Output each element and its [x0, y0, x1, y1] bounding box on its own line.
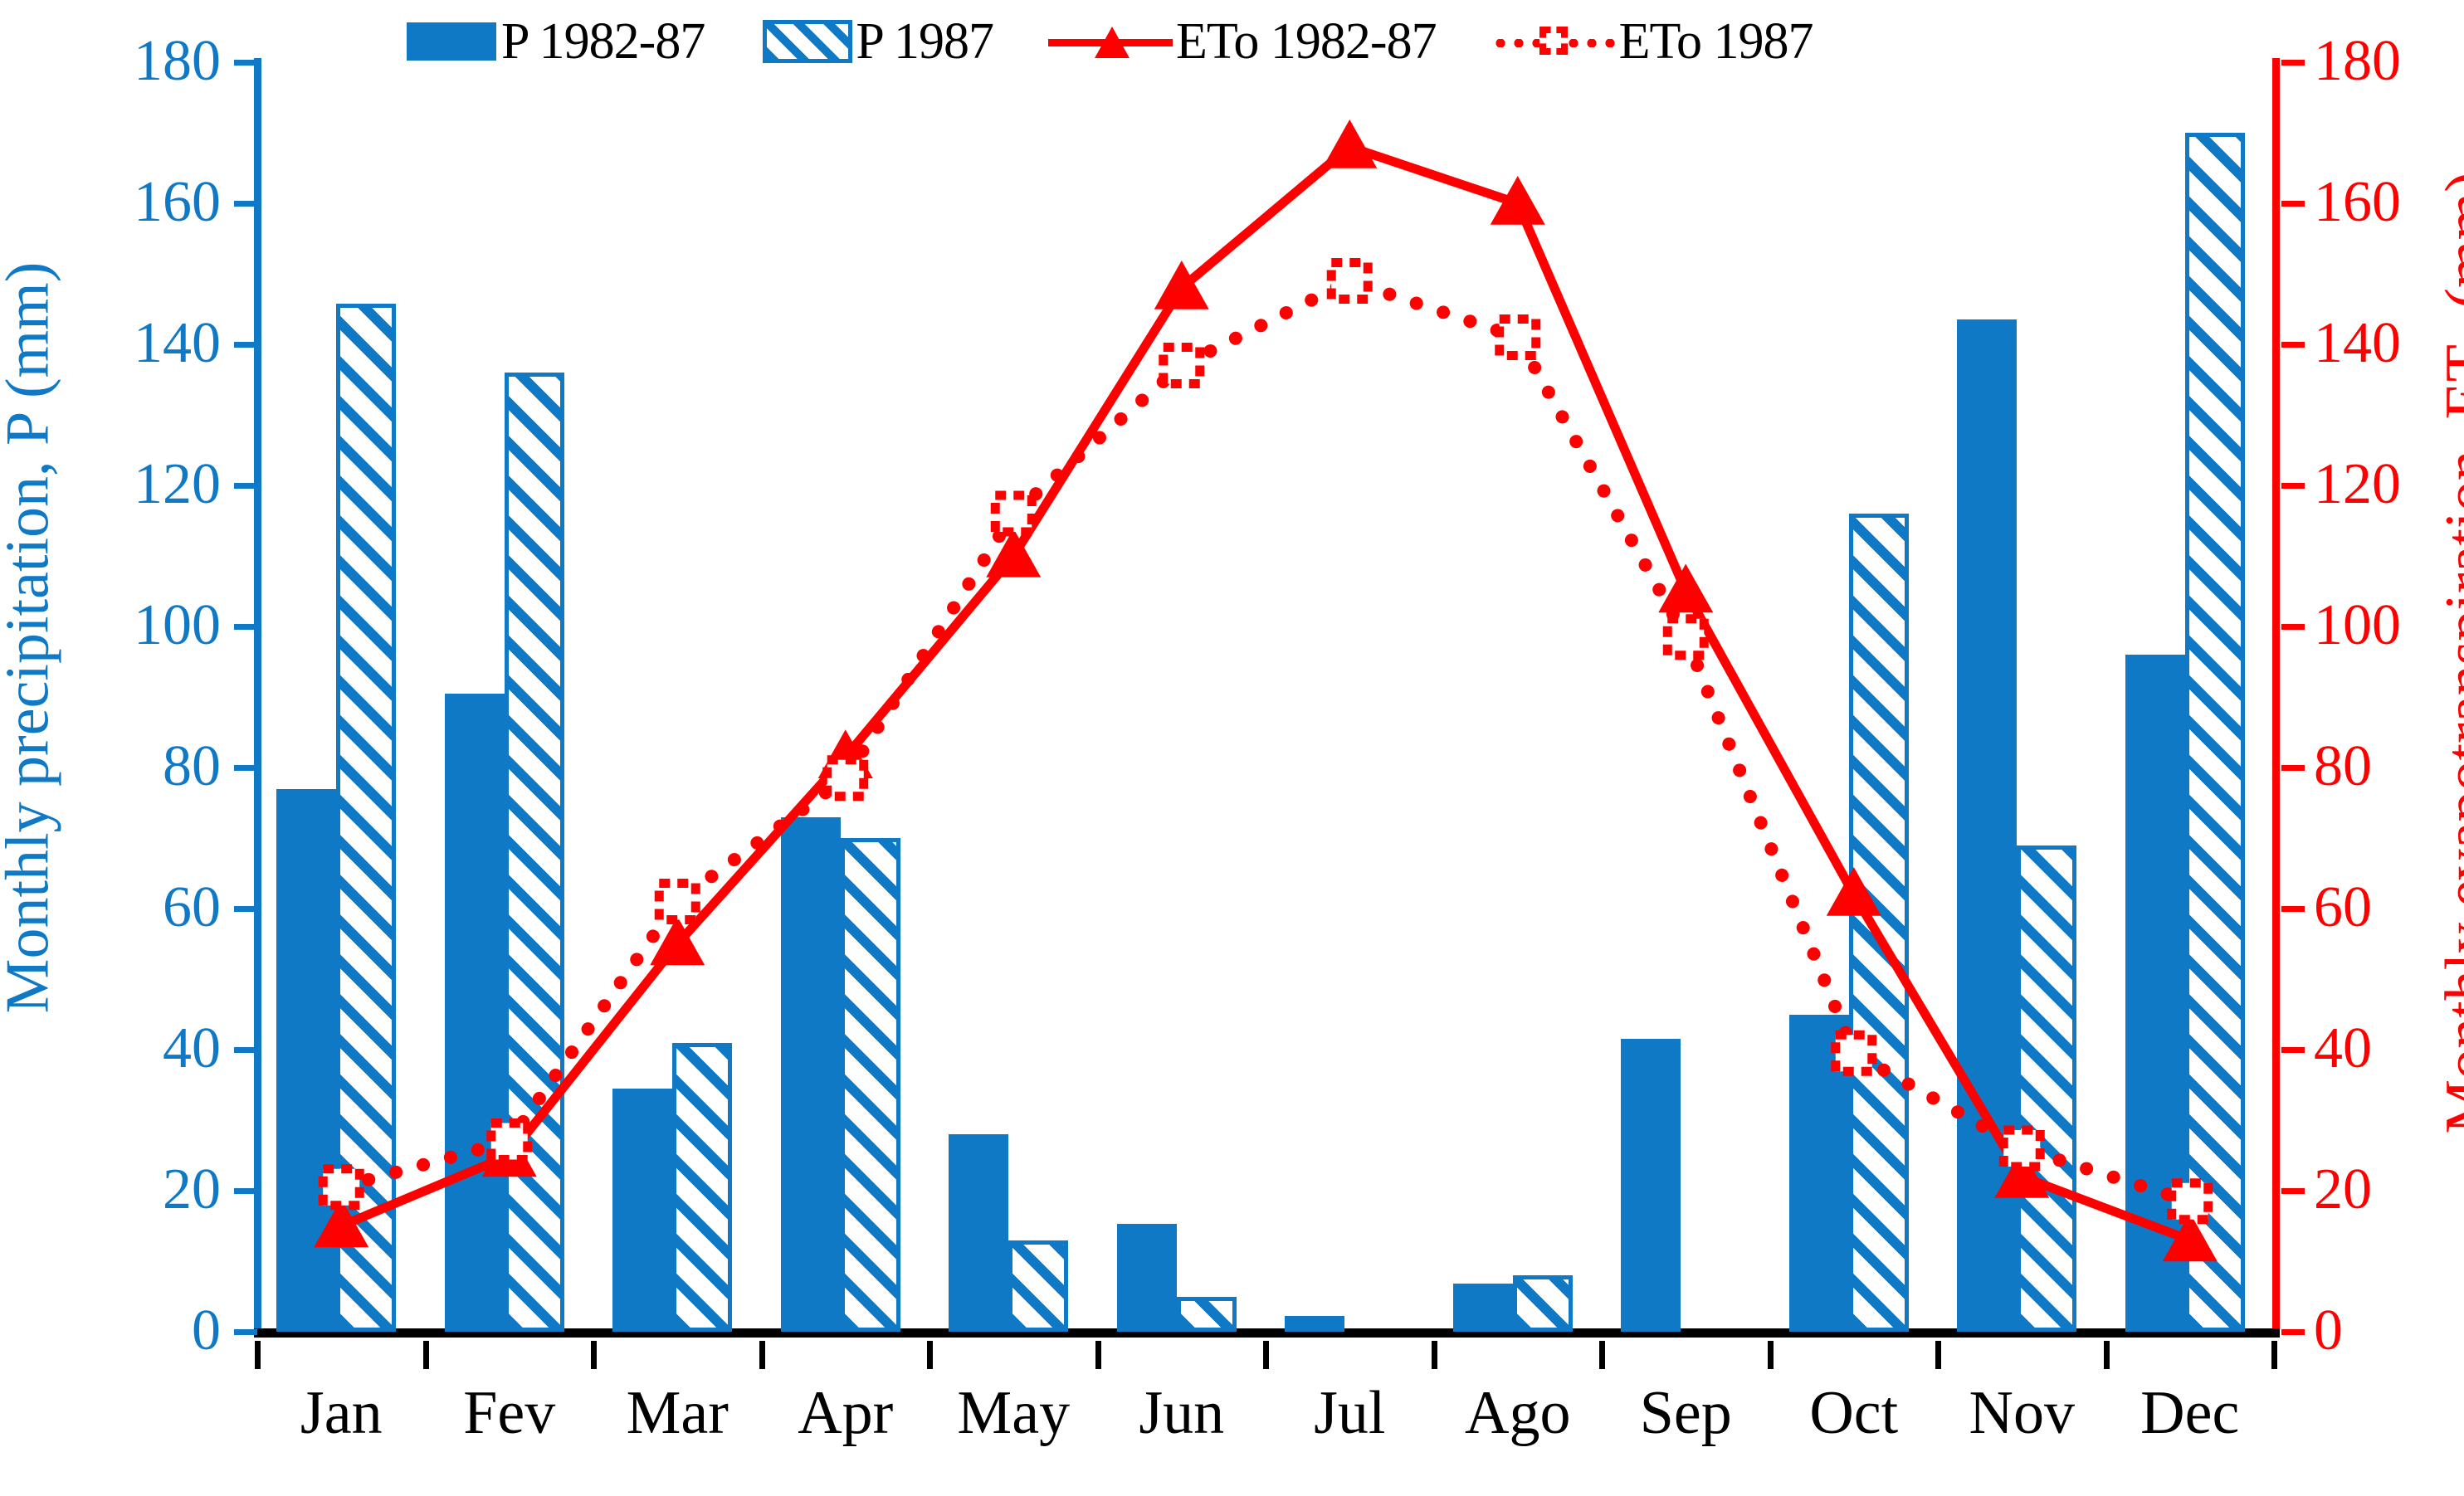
- legend-label-eto-1982-87: ETo 1982-87: [1176, 16, 1437, 67]
- plot-area: [257, 62, 2274, 1332]
- y-axis-left-tick-label: 140: [5, 314, 221, 373]
- y-axis-right-tick-label: 180: [2314, 32, 2464, 90]
- legend-label-eto-1987: ETo 1987: [1619, 16, 1813, 67]
- y-axis-right-tick-label: 80: [2314, 738, 2464, 796]
- marker-square-oct: [1836, 1035, 1872, 1071]
- y-axis-left-tick: [234, 765, 257, 771]
- line-triangle-key-icon: [1048, 20, 1173, 63]
- marker-square-nov: [2003, 1130, 2040, 1167]
- y-axis-right-tick: [2281, 765, 2305, 771]
- y-axis-right-tick-label: 140: [2314, 314, 2464, 373]
- marker-square-mar: [659, 884, 695, 920]
- x-axis-tick: [927, 1341, 933, 1369]
- y-axis-right-tick-label: 0: [2314, 1302, 2464, 1360]
- marker-triangle-jul: [1322, 119, 1377, 168]
- y-axis-left-tick-label: 80: [5, 738, 221, 796]
- y-axis-right-tick: [2281, 201, 2305, 207]
- x-axis-tick: [1599, 1341, 1605, 1369]
- y-axis-left-tick-label: 180: [5, 32, 221, 90]
- y-axis-left-tick-label: 20: [5, 1161, 221, 1219]
- y-axis-left-tick: [234, 342, 257, 348]
- y-axis-left-tick: [234, 1188, 257, 1194]
- y-axis-left-tick: [234, 60, 257, 66]
- y-axis-right-tick: [2281, 1047, 2305, 1053]
- y-axis-left-tick: [234, 201, 257, 207]
- legend-label-p-1982-87: P 1982-87: [501, 16, 705, 67]
- y-axis-right-tick-label: 20: [2314, 1161, 2464, 1219]
- y-axis-right-tick: [2281, 60, 2305, 66]
- marker-square-jan: [323, 1169, 359, 1206]
- x-axis-tick: [1935, 1341, 1941, 1369]
- y-axis-right-tick-label: 160: [2314, 173, 2464, 231]
- y-axis-left-tick-label: 120: [5, 456, 221, 514]
- marker-square-jul: [1331, 263, 1368, 300]
- x-axis-tick: [2104, 1341, 2110, 1369]
- legend-label-p-1987: P 1987: [856, 16, 993, 67]
- y-axis-right-tick: [2281, 1329, 2305, 1335]
- y-axis-right-tick-label: 120: [2314, 456, 2464, 514]
- marker-square-jun: [1164, 348, 1200, 384]
- solid-bar-key-icon: [407, 22, 496, 61]
- marker-square-ago: [1500, 319, 1536, 356]
- marker-triangle-sep: [1658, 564, 1713, 613]
- y-axis-right-tick-label: 40: [2314, 1020, 2464, 1078]
- hatched-bar-key-icon: [763, 20, 852, 63]
- marker-square-apr: [827, 760, 864, 797]
- x-axis-tick: [1263, 1341, 1269, 1369]
- y-axis-left-tick-label: 60: [5, 879, 221, 937]
- x-axis-tick: [423, 1341, 429, 1369]
- x-axis-label-dec: Dec: [2074, 1382, 2306, 1444]
- x-axis-tick: [1432, 1341, 1437, 1369]
- y-axis-right-tick-label: 60: [2314, 879, 2464, 937]
- marker-square-sep: [1667, 619, 1704, 655]
- dotted-square-key-icon: [1491, 20, 1616, 63]
- line-eto-1987: [341, 281, 2190, 1201]
- y-axis-right-tick: [2281, 483, 2305, 489]
- x-axis-tick: [2271, 1341, 2277, 1369]
- x-axis-tick: [759, 1341, 765, 1369]
- y-axis-left-tick-label: 100: [5, 597, 221, 655]
- line-eto-1982-87: [341, 147, 2190, 1240]
- y-axis-right-tick: [2281, 906, 2305, 912]
- y-axis-right-tick-label: 100: [2314, 597, 2464, 655]
- x-axis-tick: [1768, 1341, 1774, 1369]
- chart-figure: P 1982-87 P 1987 ETo 1982-87 ETo 1987 Mo…: [0, 0, 2464, 1496]
- y-axis-right-tick: [2281, 342, 2305, 348]
- marker-square-fev: [491, 1123, 528, 1160]
- y-axis-left-tick: [234, 624, 257, 630]
- marker-triangle-oct: [1827, 867, 1881, 916]
- y-axis-left-tick-label: 0: [5, 1302, 221, 1360]
- y-axis-left-tick-label: 160: [5, 173, 221, 231]
- x-axis-tick: [591, 1341, 597, 1369]
- y-axis-left-tick: [234, 1047, 257, 1053]
- x-axis-tick: [255, 1341, 261, 1369]
- y-axis-left-tick-label: 40: [5, 1020, 221, 1078]
- y-axis-left-tick: [234, 1329, 257, 1335]
- y-axis-left-tick: [234, 906, 257, 912]
- y-axis-right-tick: [2281, 624, 2305, 630]
- marker-square-dec: [2172, 1183, 2208, 1220]
- marker-square-may: [995, 495, 1032, 532]
- y-axis-left-tick: [234, 483, 257, 489]
- x-axis-tick: [1095, 1341, 1101, 1369]
- y-axis-right-tick: [2281, 1188, 2305, 1194]
- line-series-layer: [257, 62, 2274, 1332]
